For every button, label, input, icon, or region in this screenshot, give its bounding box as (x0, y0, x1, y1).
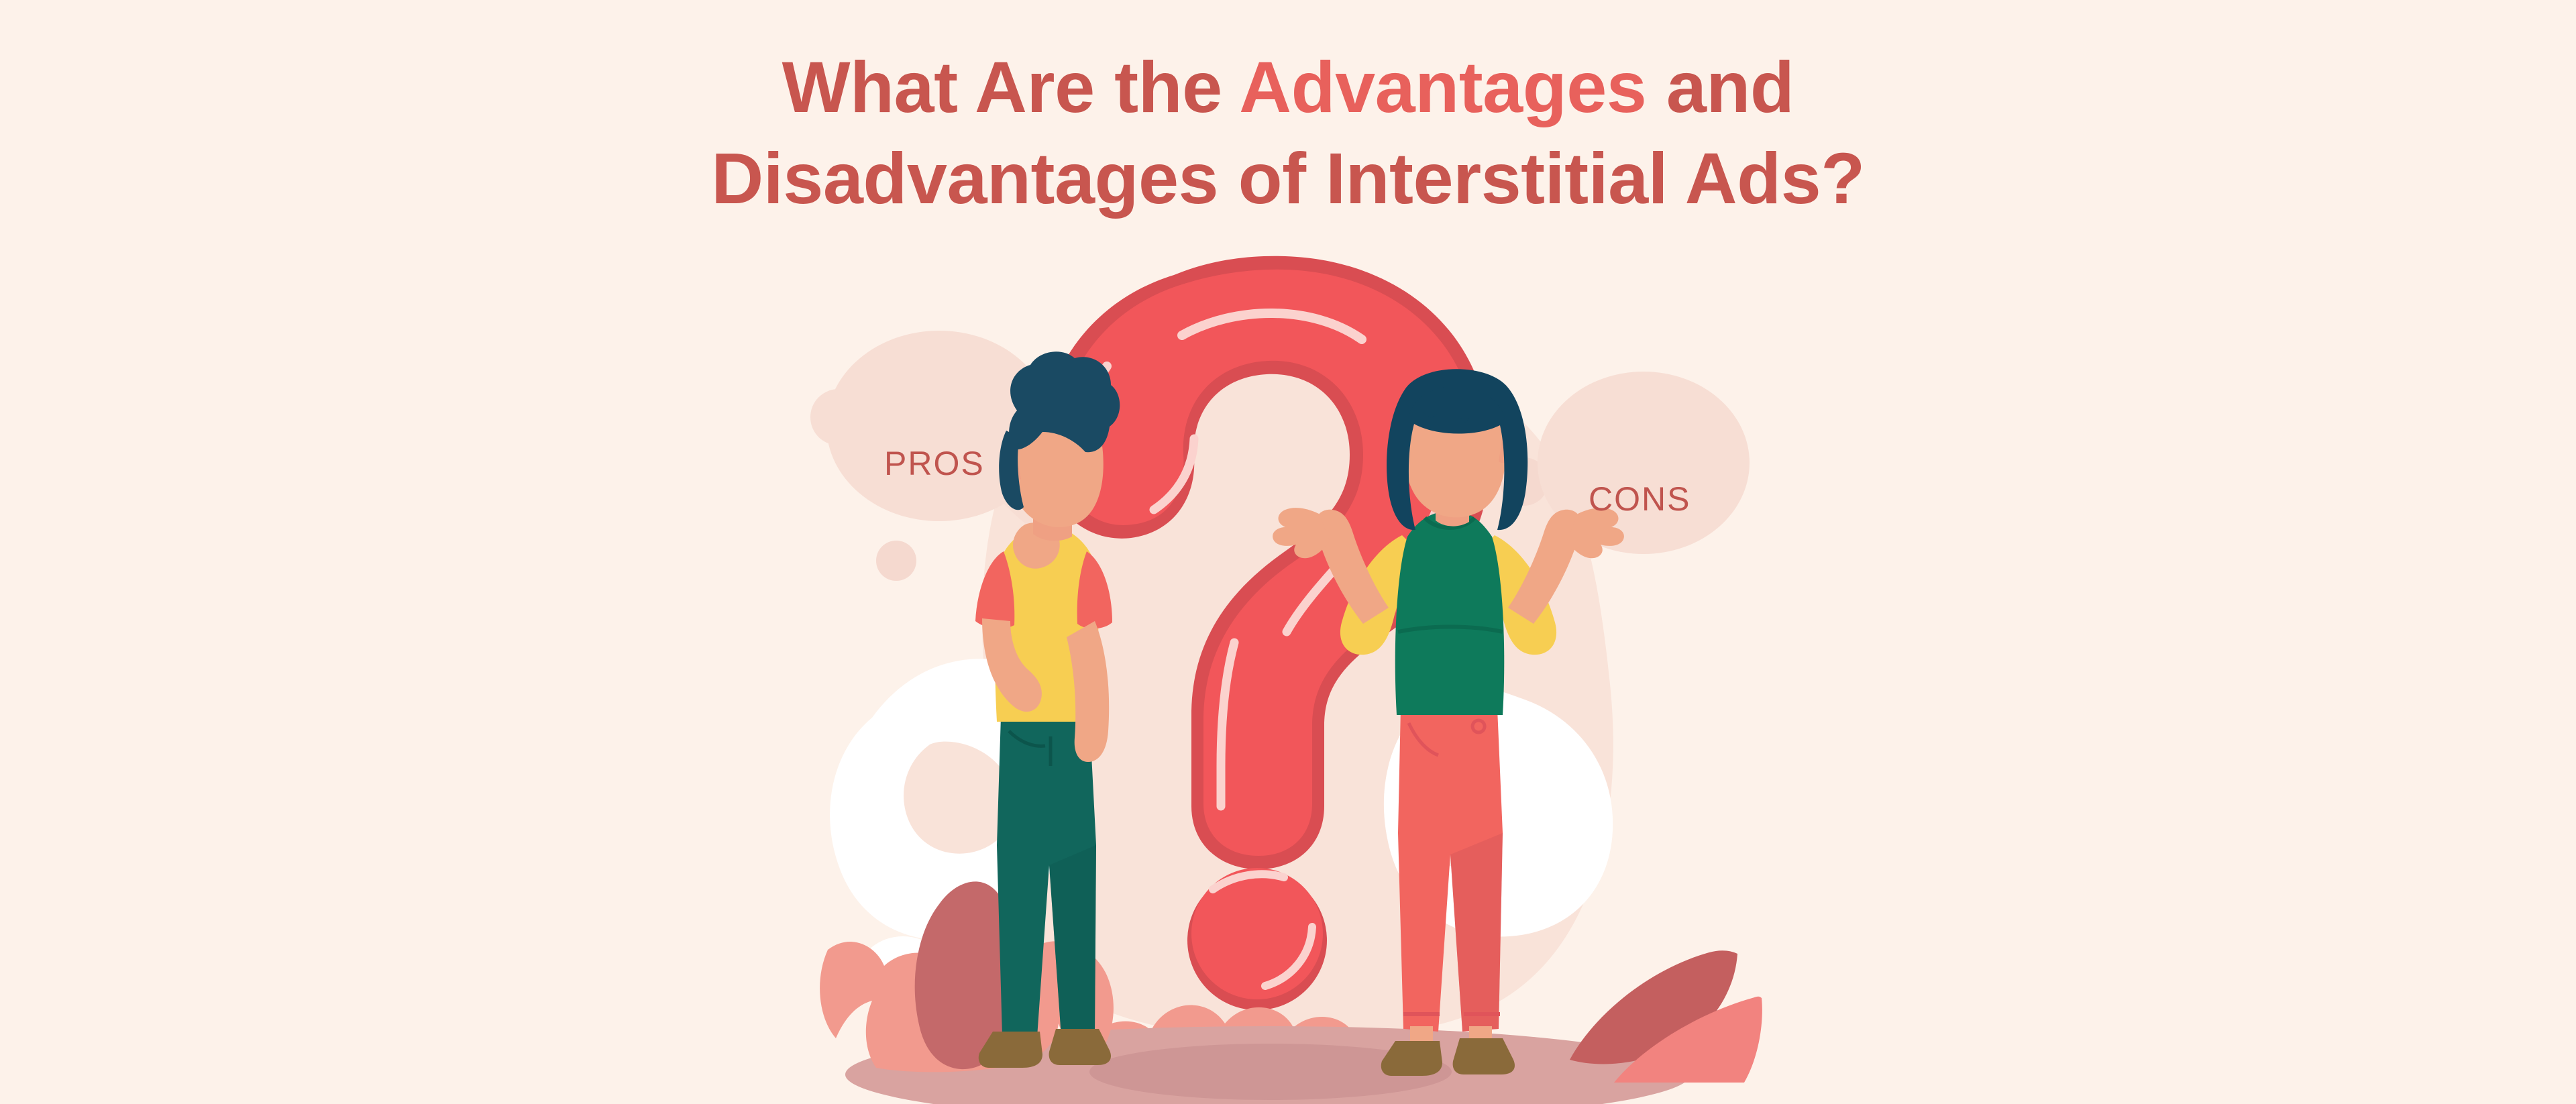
title-line-1-part-a: What Are the (782, 46, 1240, 127)
title-line-1-accent: Advantages (1239, 46, 1646, 127)
illustration-svg (771, 221, 1818, 1104)
page-title: What Are the Advantages and Disadvantage… (0, 42, 2576, 224)
title-line-2: Disadvantages of Interstitial Ads? (0, 133, 2576, 224)
title-line-1-part-c: and (1646, 46, 1794, 127)
pros-cons-illustration (771, 221, 1818, 1104)
cons-bubble-label: CONS (1589, 480, 1690, 518)
title-line-1: What Are the Advantages and (0, 42, 2576, 133)
pros-bubble-label: PROS (884, 444, 985, 483)
illustration-banner: What Are the Advantages and Disadvantage… (0, 0, 2576, 1104)
decorative-dot-2 (876, 541, 916, 581)
woman-vest (1395, 511, 1505, 715)
foliage-right (1570, 950, 1762, 1083)
